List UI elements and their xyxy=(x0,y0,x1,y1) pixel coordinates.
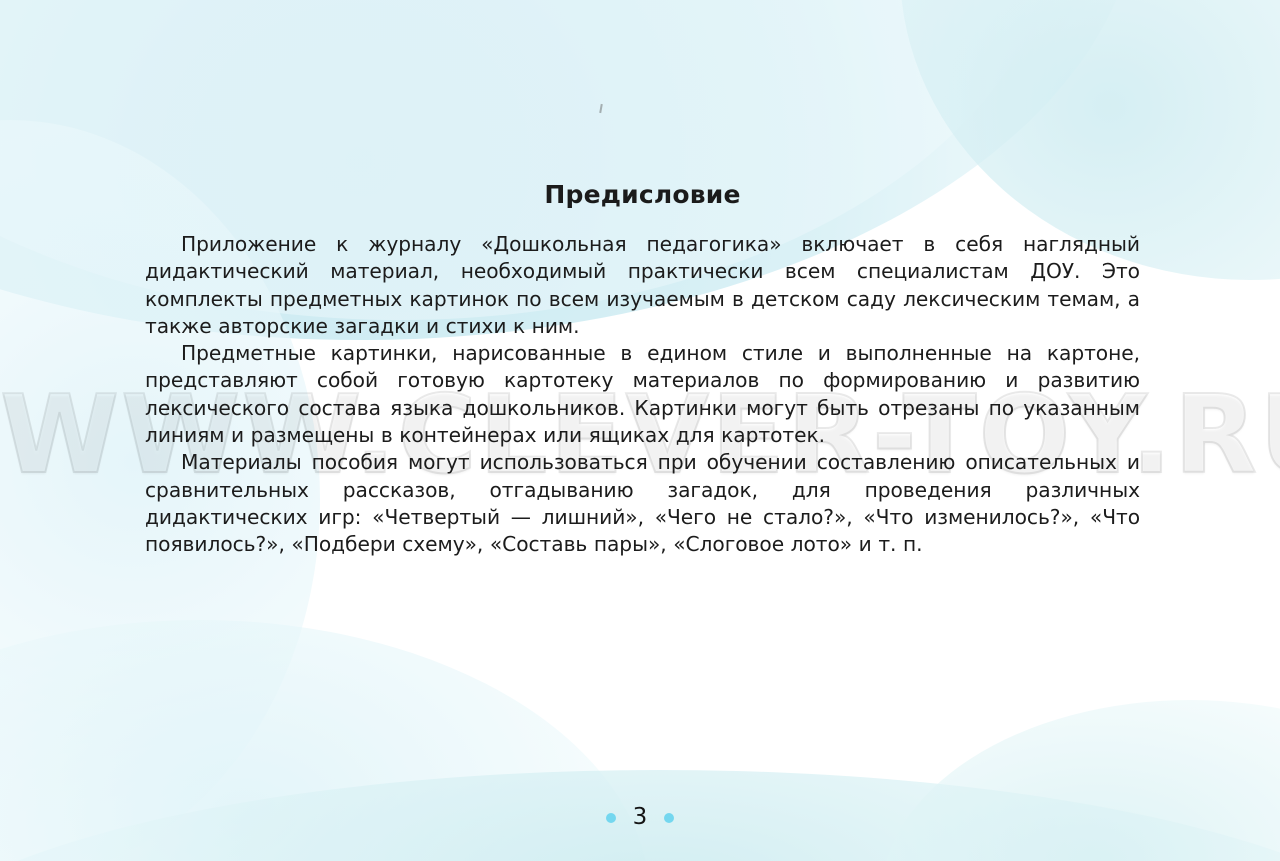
page-title: Предисловие xyxy=(145,180,1140,209)
page-footer: 3 xyxy=(0,806,1280,829)
background-blob-bottom-right xyxy=(880,700,1280,861)
scan-artifact-mark xyxy=(599,104,603,113)
paragraph: Предметные картинки, нарисованные в един… xyxy=(145,340,1140,449)
page-number: 3 xyxy=(633,806,648,829)
paragraph: Приложение к журналу «Дошкольная педагог… xyxy=(145,231,1140,340)
body-text-block: Приложение к журналу «Дошкольная педагог… xyxy=(145,231,1140,559)
bullet-dot-icon-right xyxy=(664,813,674,823)
bullet-dot-icon-left xyxy=(606,813,616,823)
paragraph: Материалы пособия могут использоваться п… xyxy=(145,449,1140,558)
document-page: WWW.CLEVER-TOY.RU Предисловие Приложение… xyxy=(0,0,1280,861)
